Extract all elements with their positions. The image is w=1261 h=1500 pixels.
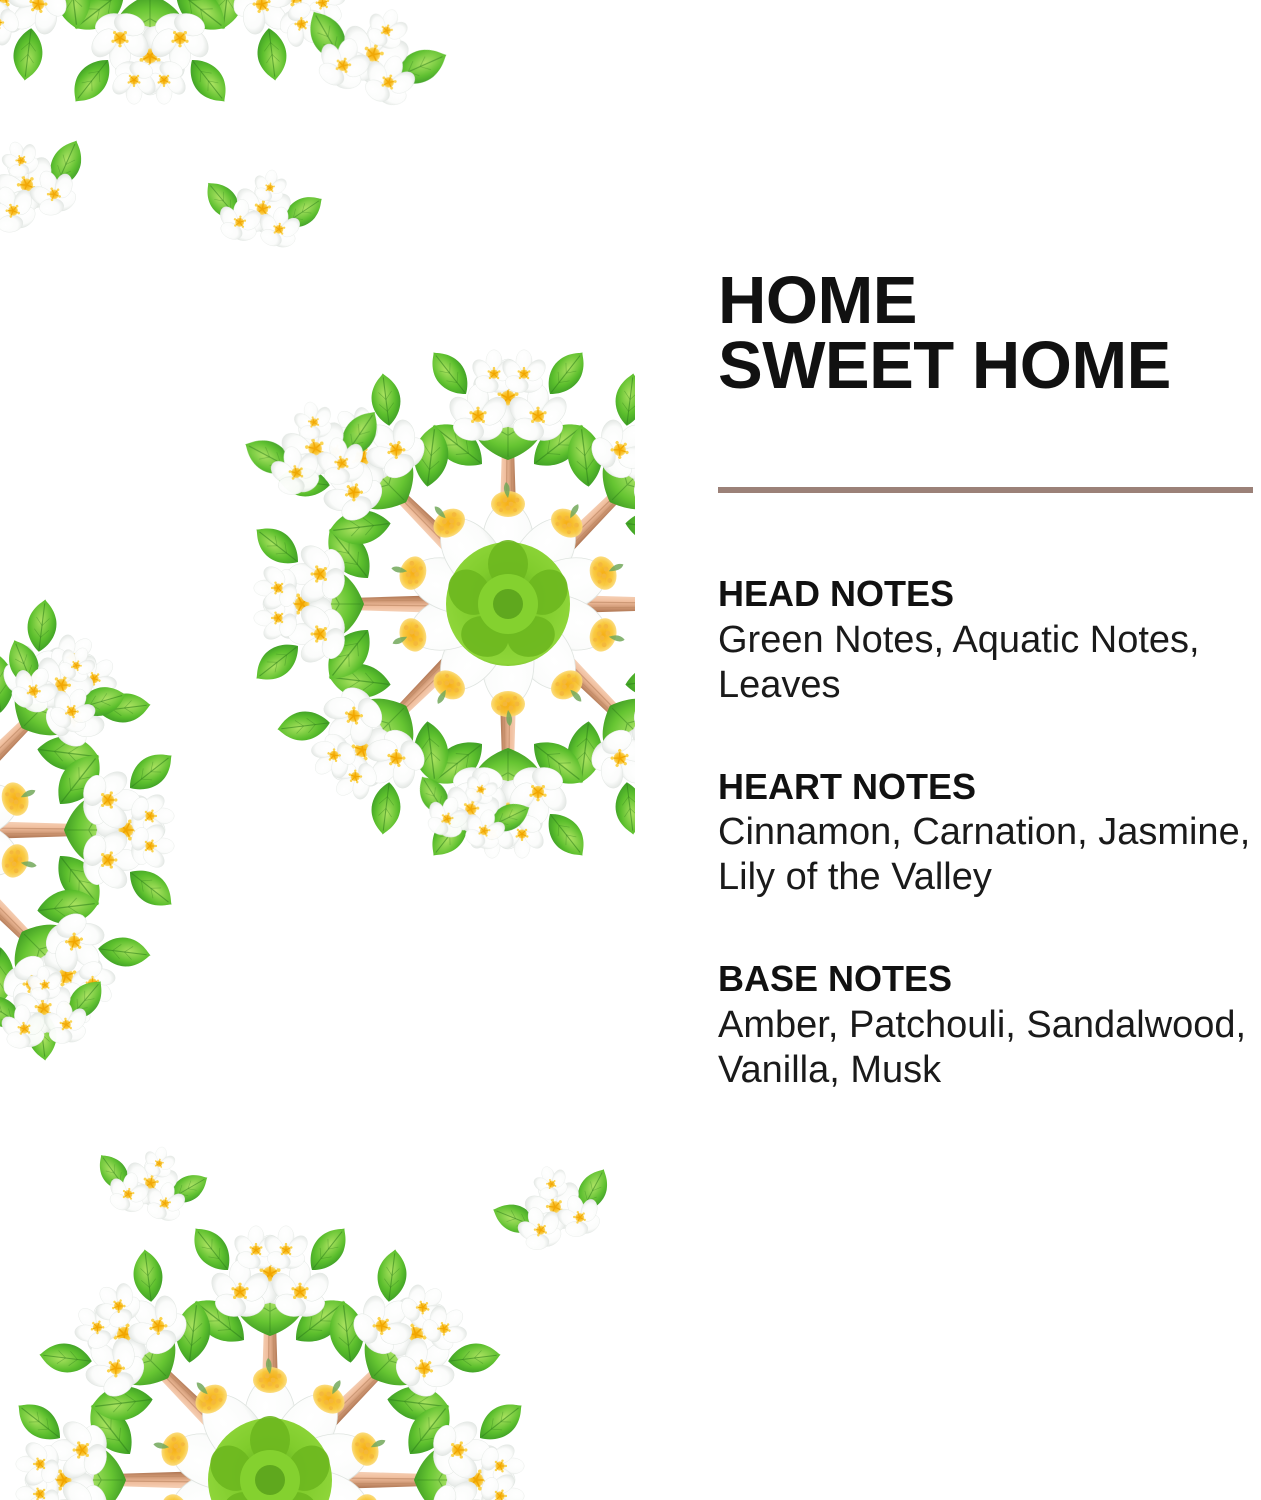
heart-notes-heading: HEART NOTES [718,768,1256,807]
note-group-base: BASE NOTES Amber, Patchouli, Sandalwood,… [718,960,1256,1093]
poster-page: HOME SWEET HOME HEAD NOTES Green Notes, … [0,0,1261,1500]
note-group-heart: HEART NOTES Cinnamon, Carnation, Jasmine… [718,768,1256,901]
title-block: HOME SWEET HOME [718,268,1256,398]
head-notes-heading: HEAD NOTES [718,575,1256,614]
title-divider [718,487,1253,493]
mandala-bottom-left [10,1220,531,1500]
mandala-left-edge [0,570,180,1091]
heart-notes-body: Cinnamon, Carnation, Jasmine, Lily of th… [718,810,1256,900]
page-title: HOME SWEET HOME [718,268,1256,398]
fragrance-notes-list: HEAD NOTES Green Notes, Aquatic Notes, L… [718,575,1256,1093]
mandala-top-left [0,0,410,110]
base-notes-body: Amber, Patchouli, Sandalwood, Vanilla, M… [718,1003,1256,1093]
head-notes-body: Green Notes, Aquatic Notes, Leaves [718,618,1256,708]
floral-decoration-panel [0,0,660,1500]
floral-kaleidoscope-svg [0,0,660,1500]
floral-cluster-scatter [0,0,632,1267]
text-column: HOME SWEET HOME HEAD NOTES Green Notes, … [718,0,1256,1500]
mandala-center [248,344,660,865]
note-group-head: HEAD NOTES Green Notes, Aquatic Notes, L… [718,575,1256,708]
base-notes-heading: BASE NOTES [718,960,1256,999]
